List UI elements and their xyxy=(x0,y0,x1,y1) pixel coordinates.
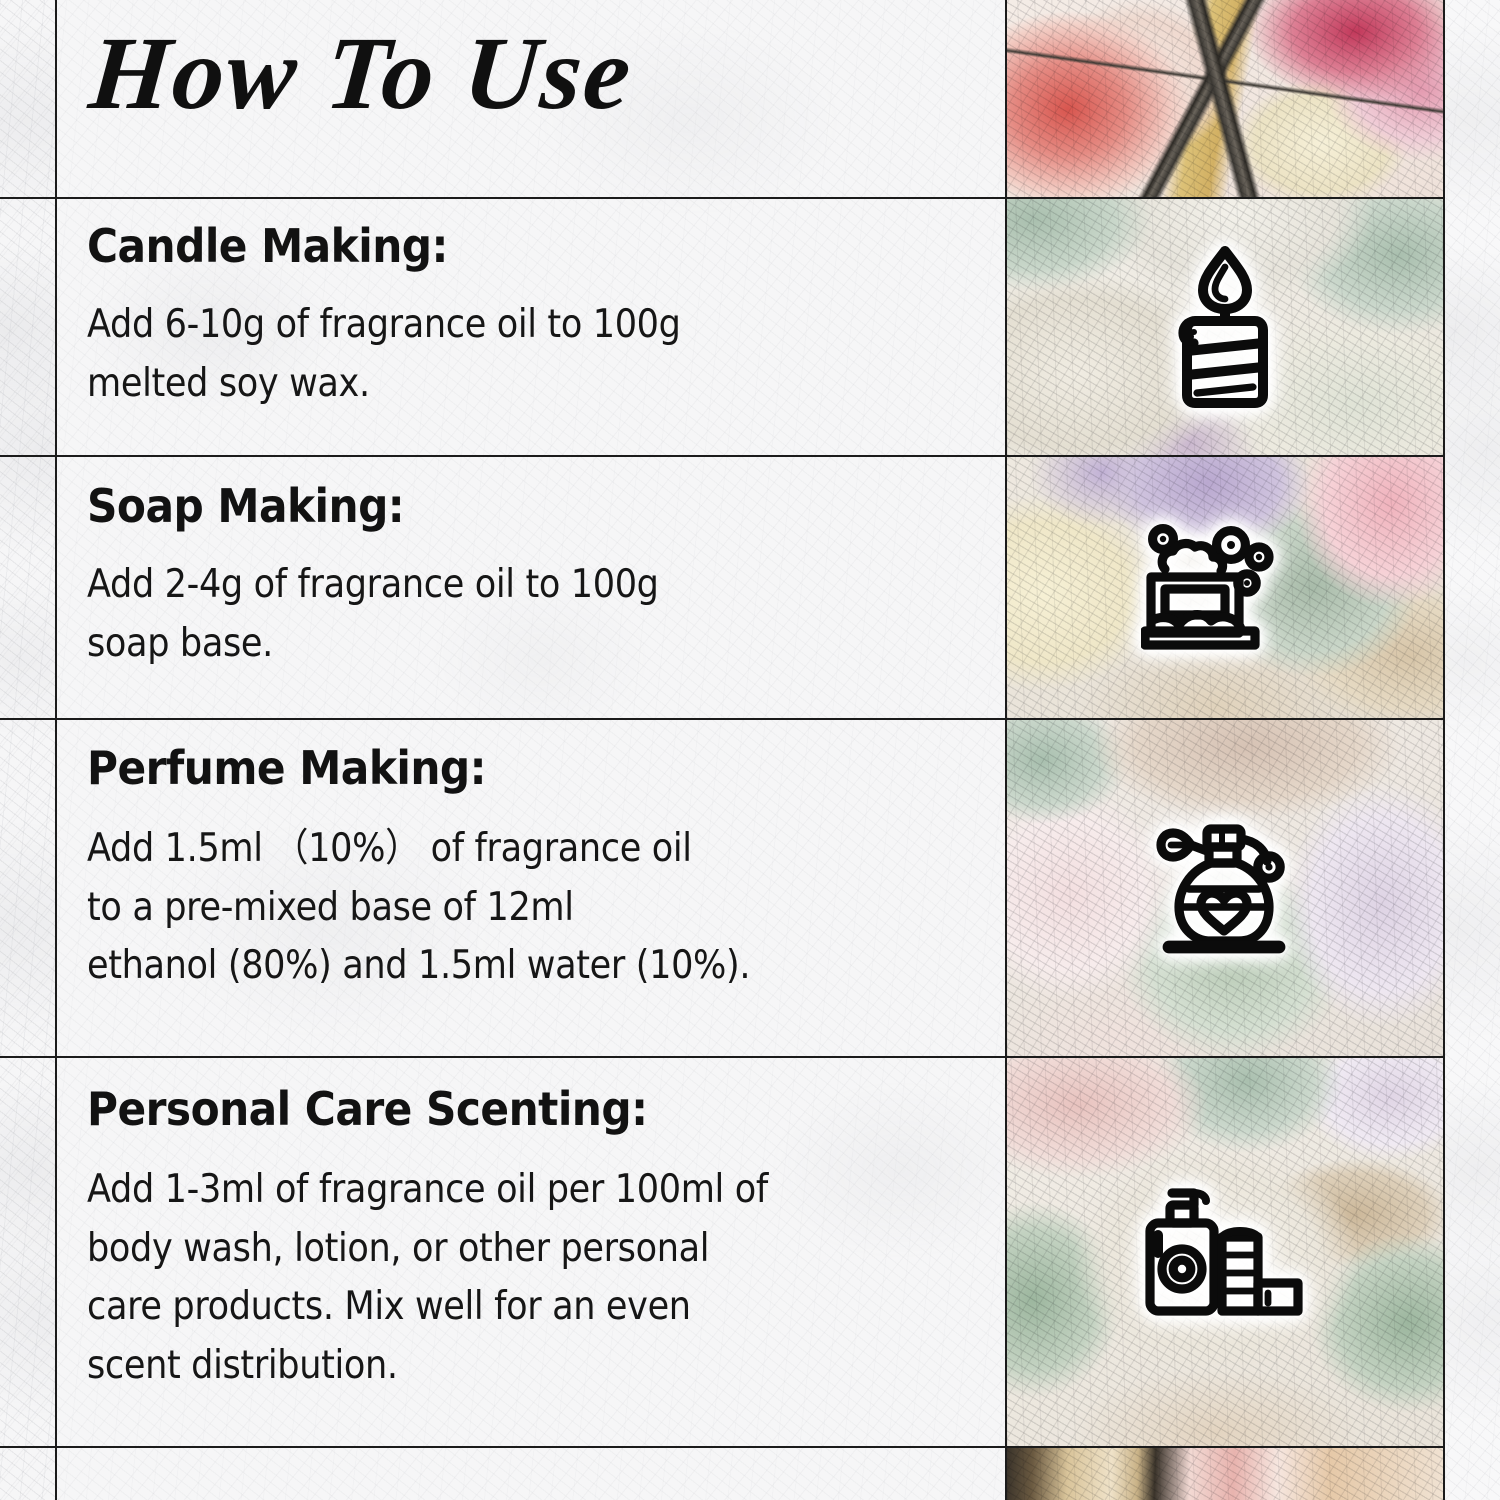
header-art-linework xyxy=(1007,0,1443,199)
lotion-bottle-tube-soap-icon xyxy=(1142,1173,1308,1333)
section-heading: Candle Making: xyxy=(87,222,904,270)
section-body: Add 2-4g of fragrance oil to 100g soap b… xyxy=(87,556,886,673)
section-heading: Soap Making: xyxy=(87,482,904,530)
art-candle-cell xyxy=(1007,199,1443,455)
soap-bar-bubbles-icon xyxy=(1141,521,1309,655)
page-title: How To Use xyxy=(85,22,636,126)
candle-icon xyxy=(1161,239,1289,415)
section-personal-care: Personal Care Scenting: Add 1-3ml of fra… xyxy=(57,1085,1005,1395)
section-heading: Perfume Making: xyxy=(87,744,904,792)
art-soap-cell xyxy=(1007,457,1443,718)
page-root: How To Use Candle Making: Add 6-10g of f… xyxy=(0,0,1500,1500)
rule-left-gutter xyxy=(55,0,57,1500)
section-body: Add 1.5ml （10%） of fragrance oil to a pr… xyxy=(87,820,886,996)
section-body: Add 1-3ml of fragrance oil per 100ml of … xyxy=(87,1161,886,1395)
right-strip-texture xyxy=(1445,0,1500,1500)
gutter-texture xyxy=(0,0,55,1500)
perfume-atomizer-heart-icon xyxy=(1145,807,1305,969)
section-soap: Soap Making: Add 2-4g of fragrance oil t… xyxy=(57,482,1005,673)
rule-text-image-divider xyxy=(1005,0,1007,1500)
art-personal-care-cell xyxy=(1007,1058,1443,1448)
footer-art-linework xyxy=(1007,1448,1443,1500)
footer-art-cell xyxy=(1007,1448,1443,1500)
section-heading: Personal Care Scenting: xyxy=(87,1085,904,1133)
section-perfume: Perfume Making: Add 1.5ml （10%） of fragr… xyxy=(57,744,1005,996)
right-strip xyxy=(1445,0,1500,1500)
header-band: How To Use xyxy=(57,0,1005,199)
header-art-roses xyxy=(1007,0,1443,199)
section-body: Add 6-10g of fragrance oil to 100g melte… xyxy=(87,296,886,413)
section-candle: Candle Making: Add 6-10g of fragrance oi… xyxy=(57,222,1005,413)
art-perfume-cell xyxy=(1007,720,1443,1056)
left-gutter xyxy=(0,0,55,1500)
